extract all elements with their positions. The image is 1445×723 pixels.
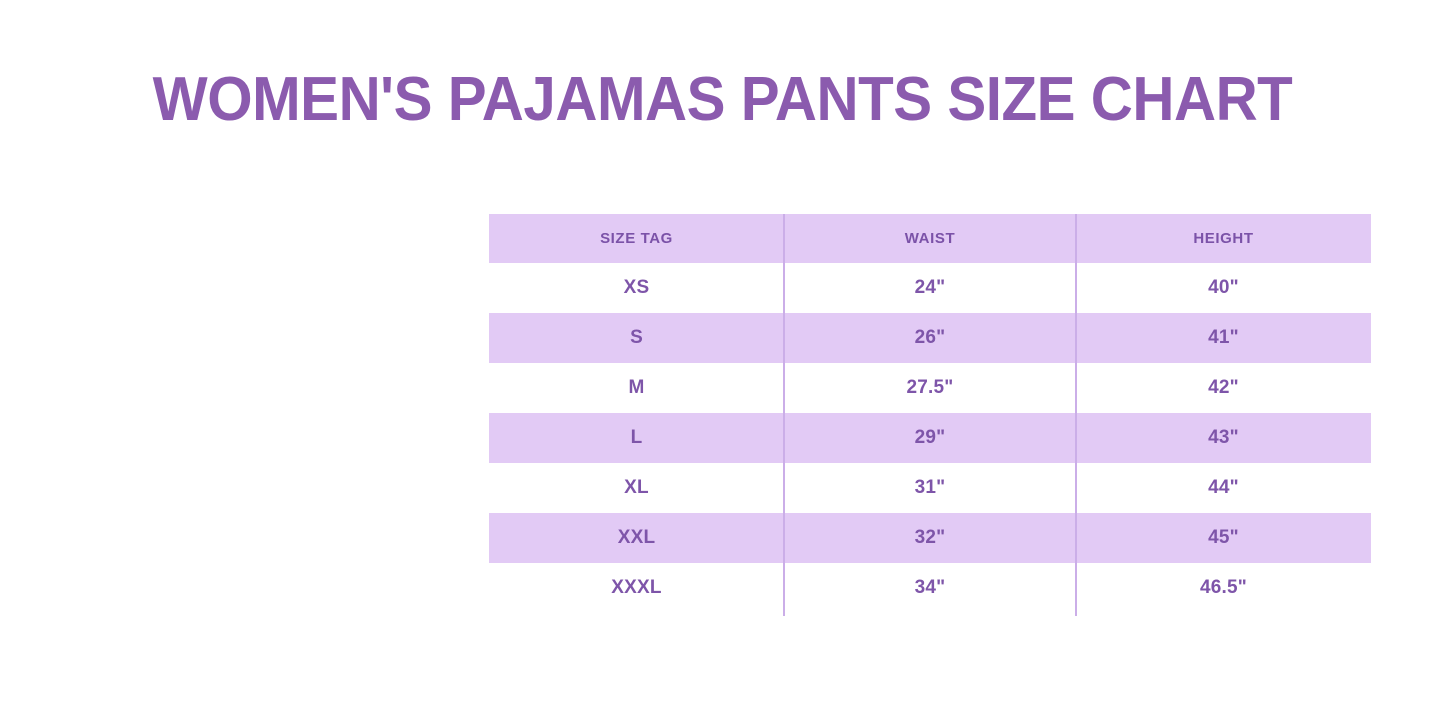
page-title: WOMEN'S PAJAMAS PANTS SIZE CHART [43, 64, 1401, 136]
cell-waist: 27.5" [784, 363, 1076, 413]
column-header-size-tag: SIZE TAG [489, 214, 784, 263]
table-row: XL 31" 44" [489, 463, 1371, 513]
table-row: XS 24" 40" [489, 263, 1371, 313]
table-header-row: SIZE TAG WAIST HEIGHT [489, 214, 1371, 263]
cell-height: 41" [1076, 313, 1371, 363]
cell-size-tag: M [489, 363, 784, 413]
column-header-height: HEIGHT [1076, 214, 1371, 263]
table-body: XS 24" 40" S 26" 41" M 27.5" 42" L 29" 4… [489, 263, 1371, 613]
table-row: L 29" 43" [489, 413, 1371, 463]
size-chart-page: WOMEN'S PAJAMAS PANTS SIZE CHART SIZE TA… [0, 0, 1445, 723]
size-chart-table: SIZE TAG WAIST HEIGHT XS 24" 40" S 26" 4… [489, 214, 1371, 613]
table-row: XXXL 34" 46.5" [489, 563, 1371, 613]
cell-size-tag: XXL [489, 513, 784, 563]
table-row: XXL 32" 45" [489, 513, 1371, 563]
cell-size-tag: XS [489, 263, 784, 313]
cell-size-tag: L [489, 413, 784, 463]
cell-height: 46.5" [1076, 563, 1371, 613]
table-header: SIZE TAG WAIST HEIGHT [489, 214, 1371, 263]
table-row: M 27.5" 42" [489, 363, 1371, 413]
cell-waist: 24" [784, 263, 1076, 313]
column-divider-left [783, 214, 785, 616]
cell-height: 43" [1076, 413, 1371, 463]
cell-waist: 31" [784, 463, 1076, 513]
cell-height: 42" [1076, 363, 1371, 413]
cell-size-tag: XXXL [489, 563, 784, 613]
cell-waist: 32" [784, 513, 1076, 563]
column-header-waist: WAIST [784, 214, 1076, 263]
cell-height: 40" [1076, 263, 1371, 313]
column-divider-right [1075, 214, 1077, 616]
cell-size-tag: S [489, 313, 784, 363]
cell-waist: 26" [784, 313, 1076, 363]
cell-height: 44" [1076, 463, 1371, 513]
cell-height: 45" [1076, 513, 1371, 563]
cell-waist: 29" [784, 413, 1076, 463]
table-row: S 26" 41" [489, 313, 1371, 363]
cell-waist: 34" [784, 563, 1076, 613]
cell-size-tag: XL [489, 463, 784, 513]
